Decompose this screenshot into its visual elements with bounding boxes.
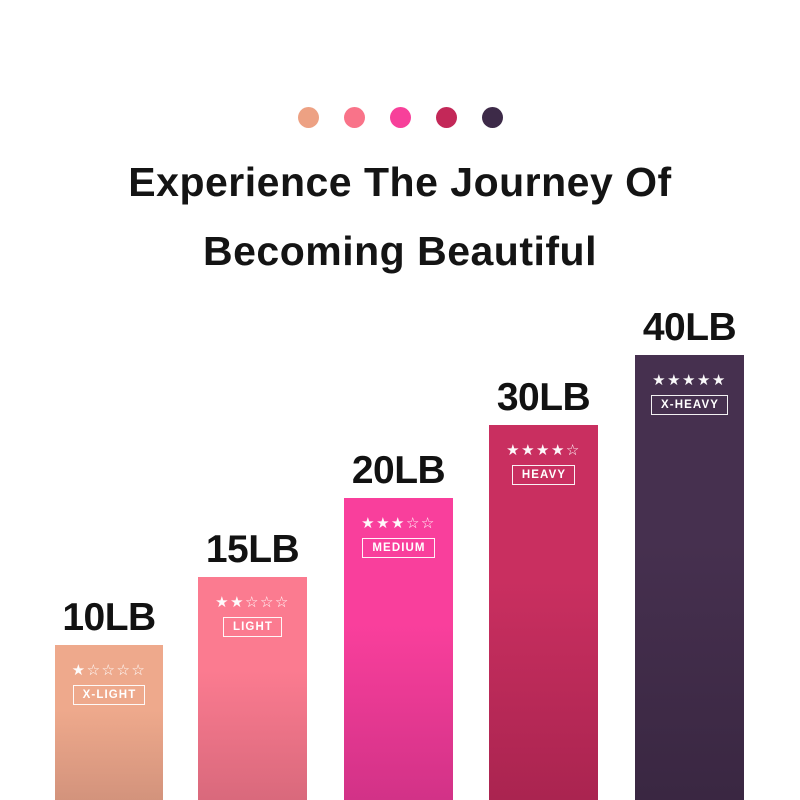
resistance-level-badge: X-HEAVY [651,395,728,415]
bar-column: ★★★☆☆MEDIUM [344,498,453,800]
resistance-level-badge: HEAVY [512,465,575,485]
promo-banner: Experience The Journey Of Becoming Beaut… [0,0,800,800]
bar-value-label: 40LB [643,306,736,350]
bar-group-15lb[interactable]: 15LB★★☆☆☆LIGHT [198,577,307,800]
star-rating: ★★★★★ [652,373,727,388]
bar-badge: ★★☆☆☆LIGHT [198,595,307,637]
star-rating: ★★★★☆ [506,443,581,458]
resistance-level-badge: X-LIGHT [73,685,146,705]
bar-badge: ★★★★★X-HEAVY [635,373,744,415]
star-rating: ★☆☆☆☆ [72,663,147,678]
bar-group-10lb[interactable]: 10LB★☆☆☆☆X-LIGHT [55,645,163,800]
resistance-bar-chart: 10LB★☆☆☆☆X-LIGHT15LB★★☆☆☆LIGHT20LB★★★☆☆M… [0,0,800,800]
bar-value-label: 15LB [206,528,299,572]
bar-group-30lb[interactable]: 30LB★★★★☆HEAVY [489,425,598,800]
bar-column: ★★★★★X-HEAVY [635,355,744,800]
resistance-level-badge: MEDIUM [362,538,434,558]
bar-value-label: 30LB [497,376,590,420]
bar-column: ★★☆☆☆LIGHT [198,577,307,800]
bar-value-label: 20LB [352,449,445,493]
bar-column: ★★★★☆HEAVY [489,425,598,800]
bar-badge: ★★★☆☆MEDIUM [344,516,453,558]
star-rating: ★★☆☆☆ [215,595,290,610]
bar-badge: ★☆☆☆☆X-LIGHT [55,663,163,705]
bar-group-20lb[interactable]: 20LB★★★☆☆MEDIUM [344,498,453,800]
bar-column: ★☆☆☆☆X-LIGHT [55,645,163,800]
bar-group-40lb[interactable]: 40LB★★★★★X-HEAVY [635,355,744,800]
bar-value-label: 10LB [62,596,155,640]
star-rating: ★★★☆☆ [361,516,436,531]
bar-badge: ★★★★☆HEAVY [489,443,598,485]
resistance-level-badge: LIGHT [223,617,282,637]
